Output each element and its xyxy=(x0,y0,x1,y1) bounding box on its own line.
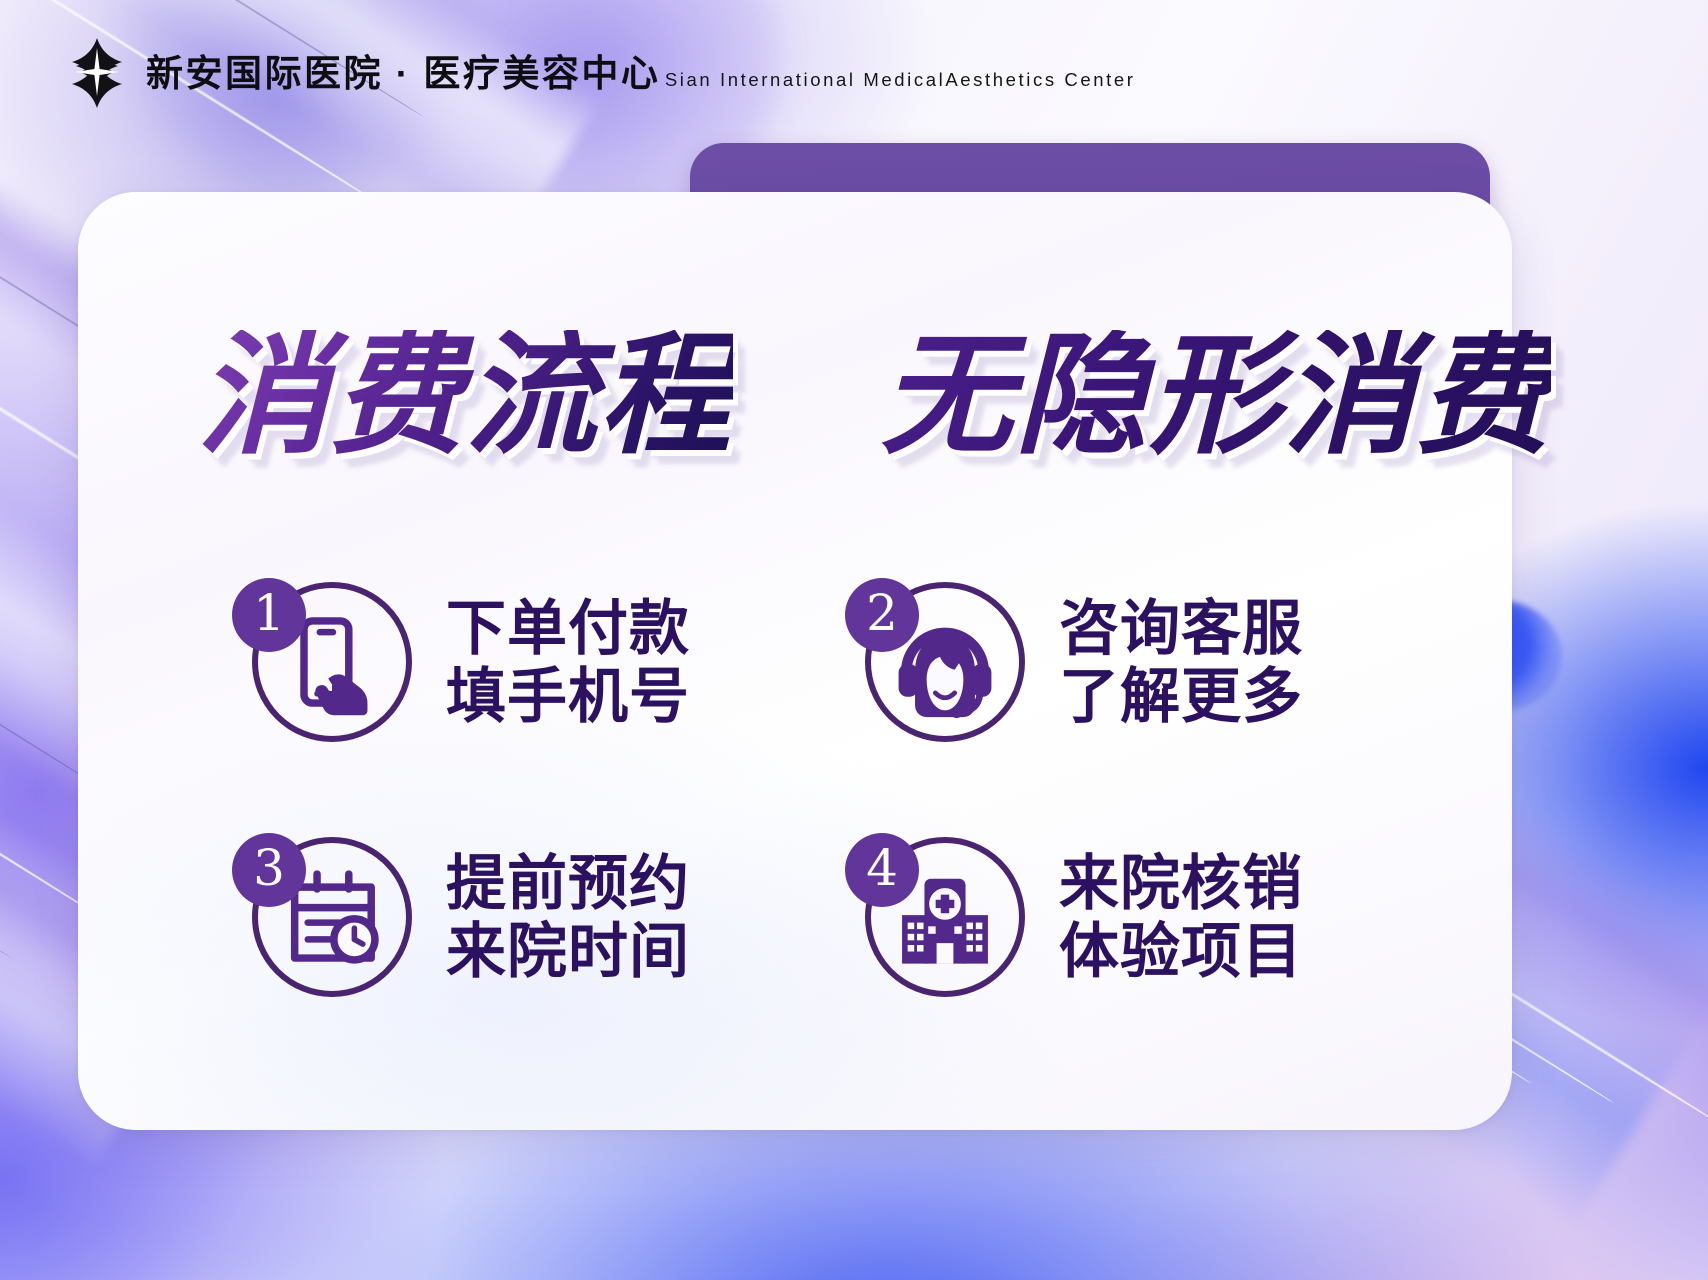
step-3-icon-group: 3 xyxy=(238,829,416,1007)
step-2-number-badge: 2 xyxy=(845,578,919,652)
step-4-number-badge: 4 xyxy=(845,833,919,907)
step-3-number: 3 xyxy=(253,843,285,893)
step-2-label: 咨询客服 了解更多 xyxy=(1059,595,1303,729)
process-step-4: 4 来院核销 体验项目 xyxy=(825,795,1412,1040)
step-2-label-line1: 咨询客服 xyxy=(1059,595,1303,662)
step-1-number-badge: 1 xyxy=(232,578,306,652)
step-3-label-line2: 来院时间 xyxy=(446,918,690,985)
step-4-number: 4 xyxy=(866,843,898,893)
step-2-icon-group: 2 xyxy=(851,574,1029,752)
step-2-number: 2 xyxy=(866,588,898,638)
brand-logo: 新安国际医院 · 医疗美容中心 Sian International Medic… xyxy=(64,36,1136,110)
step-1-label-line2: 填手机号 xyxy=(446,663,690,730)
brand-logo-text: 新安国际医院 · 医疗美容中心 Sian International Medic… xyxy=(146,52,1136,94)
step-4-label-line1: 来院核销 xyxy=(1059,850,1303,917)
process-step-3: 3 提前预约 来院时间 xyxy=(238,795,825,1040)
step-4-label: 来院核销 体验项目 xyxy=(1059,850,1303,984)
step-3-label-line1: 提前预约 xyxy=(446,850,690,917)
brand-name-en: Sian International MedicalAesthetics Cen… xyxy=(665,69,1136,90)
step-1-icon-group: 1 xyxy=(238,574,416,752)
process-step-2: 2 咨询客服 了解更多 xyxy=(825,540,1412,785)
process-step-1: 1 下单付款 填手机号 xyxy=(238,540,825,785)
four-point-star-sparkle-logo-icon xyxy=(64,36,130,110)
step-4-label-line2: 体验项目 xyxy=(1059,918,1303,985)
step-1-label-line1: 下单付款 xyxy=(446,595,690,662)
step-1-label: 下单付款 填手机号 xyxy=(446,595,690,729)
brand-name-cn: 新安国际医院 · 医疗美容中心 xyxy=(146,53,660,94)
step-3-label: 提前预约 来院时间 xyxy=(446,850,690,984)
step-3-number-badge: 3 xyxy=(232,833,306,907)
step-1-number: 1 xyxy=(253,588,285,638)
process-steps-list: 1 下单付款 填手机号 xyxy=(78,540,1512,1040)
step-2-label-line2: 了解更多 xyxy=(1059,663,1303,730)
step-4-icon-group: 4 xyxy=(851,829,1029,1007)
